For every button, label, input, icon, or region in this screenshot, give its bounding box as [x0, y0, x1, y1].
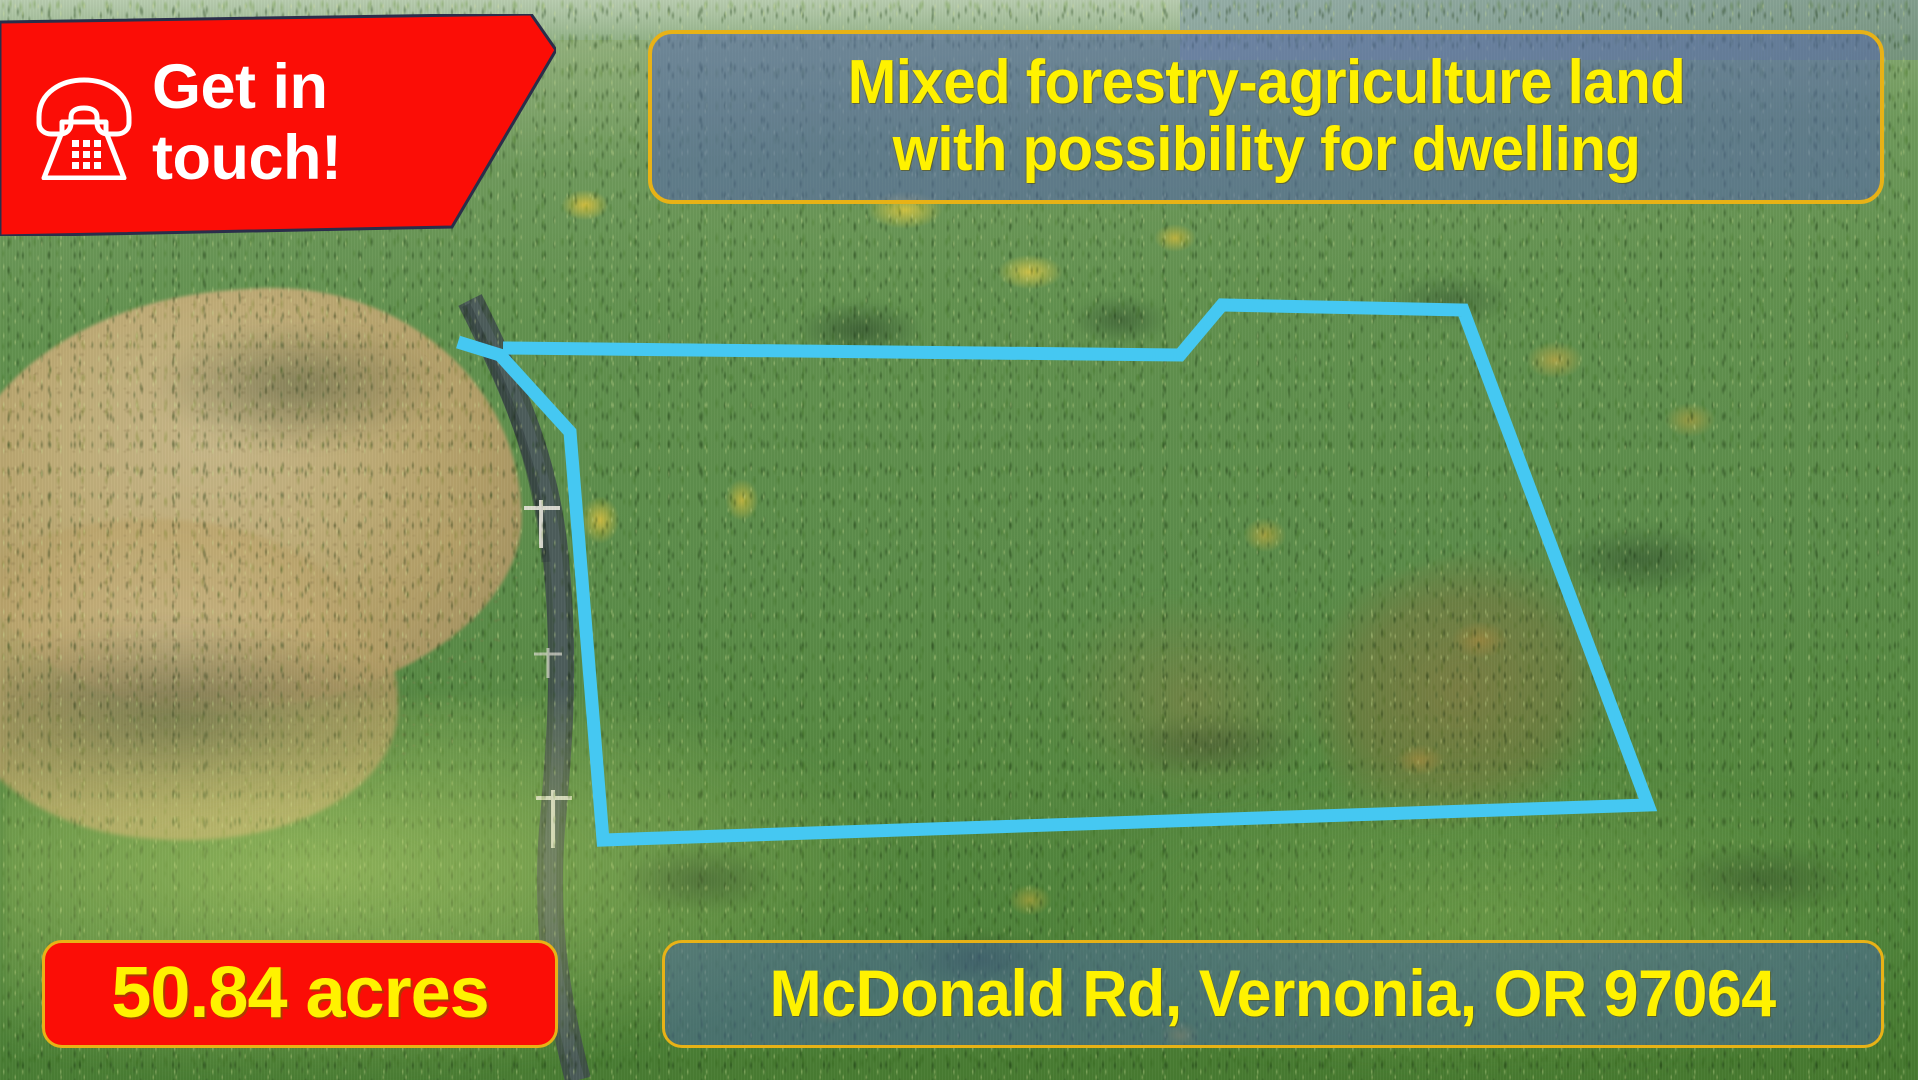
acreage-badge: 50.84 acres: [42, 940, 558, 1048]
listing-image: Get in touch! Mixed forestry-agriculture…: [0, 0, 1918, 1080]
address-bar: McDonald Rd, Vernonia, OR 97064: [662, 940, 1884, 1048]
keypad-dots: [72, 140, 101, 169]
address-label: McDonald Rd, Vernonia, OR 97064: [770, 960, 1776, 1026]
headline-line-2: with possibility for dwelling: [847, 117, 1684, 184]
headline-banner: Mixed forestry-agriculture land with pos…: [648, 30, 1884, 204]
headline-line-1: Mixed forestry-agriculture land: [847, 50, 1684, 117]
get-in-touch-label: Get in touch!: [152, 52, 341, 193]
acreage-label: 50.84 acres: [111, 957, 488, 1029]
headline-text-block: Mixed forestry-agriculture land with pos…: [834, 50, 1698, 184]
telephone-icon: [26, 70, 142, 180]
get-in-touch-ribbon[interactable]: Get in touch!: [0, 14, 556, 236]
property-boundary-line: [458, 305, 1648, 840]
